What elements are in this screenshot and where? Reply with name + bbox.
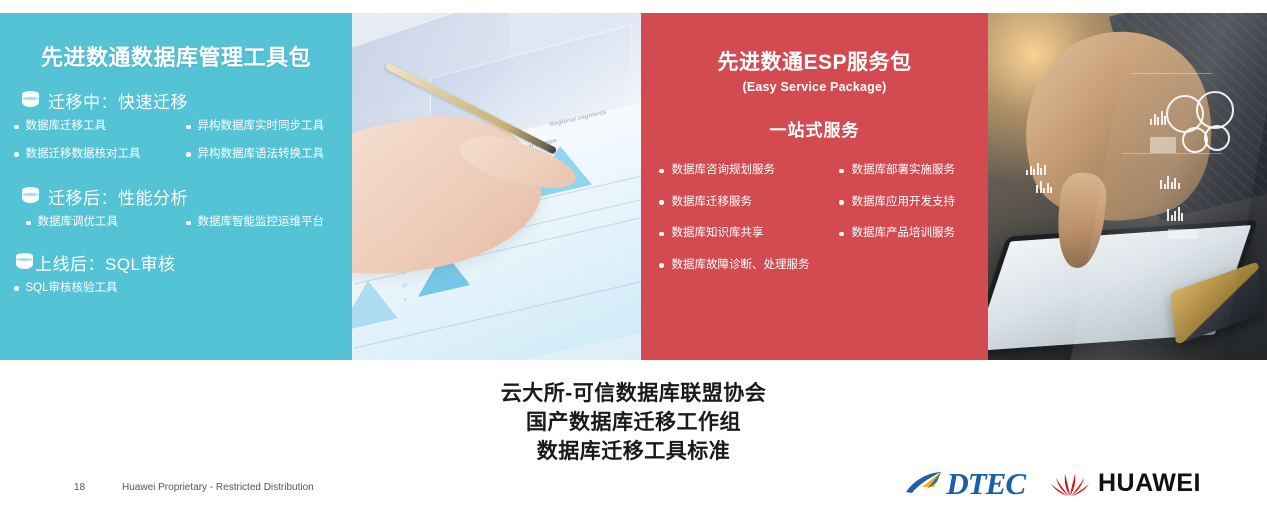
list-item: 数据库调优工具 [14,209,186,237]
list-item-label: 数据库咨询规划服务 [672,165,776,177]
list-item-label: 数据库故障诊断、处理服务 [672,260,810,272]
bullet-dot-icon [839,200,844,205]
photo-hand-with-pen-over-analytics: Regional segments Central Europe East Eu… [340,13,650,360]
list-item-label: 数据库调优工具 [38,217,119,229]
photo-hud-bars [1026,161,1046,175]
photo-hand-touching-tablet [982,13,1267,360]
list-item: 数据库应用开发支持 [839,187,987,219]
list-item-label: 数据库应用开发支持 [852,197,956,209]
list-item-label: 数据库知识库共享 [672,228,764,240]
page-number: 18 [74,482,85,493]
footer-logos: DTEC HUAWEI [905,468,1201,499]
list-item: 数据迁移数据核对工具 [14,141,186,169]
bullet-dot-icon [659,169,664,174]
left-section-heading-performance: 迁移后：性能分析 [0,184,352,209]
bullet-dot-icon [186,125,191,130]
database-icon [22,91,39,110]
database-icon [22,187,39,206]
left-section-heading-text: 迁移中：快速迁移 [48,88,188,113]
bullet-dot-icon [186,152,191,157]
left-panel-title: 先进数通数据库管理工具包 [0,13,352,72]
list-item: 数据库咨询规划服务 [659,155,839,187]
right-panel-tagline: 一站式服务 [641,116,988,141]
caption-line-1: 云大所-可信数据库联盟协会 [0,380,1267,409]
bullet-dot-icon [659,232,664,237]
bullet-dot-icon [14,152,19,157]
list-item-label: 异构数据库实时同步工具 [198,121,325,133]
right-panel-esp-service: 先进数通ESP服务包 (Easy Service Package) 一站式服务 … [641,13,988,360]
slide-caption: 云大所-可信数据库联盟协会 国产数据库迁移工作组 数据库迁移工具标准 [0,380,1267,467]
right-panel-title: 先进数通ESP服务包 [641,13,988,76]
content-band: Regional segments Central Europe East Eu… [0,13,1267,360]
photo-hud-line [1122,153,1222,154]
list-item: 数据库故障诊断、处理服务 [659,250,988,282]
huawei-logo: HUAWEI [1051,470,1201,498]
database-icon [16,253,33,272]
photo-hud-ring [1196,91,1234,129]
right-panel-subtitle: (Easy Service Package) [641,80,988,94]
list-item: 数据库智能监控运维平台 [186,209,352,237]
dtec-logo: DTEC [905,468,1025,499]
caption-line-2: 国产数据库迁移工作组 [0,409,1267,438]
list-item-label: 数据库迁移服务 [672,197,753,209]
photo-hud-block [1150,137,1176,153]
bullet-dot-icon [14,125,19,130]
left-section-heading-sql-audit: 上线后：SQL审核 [0,250,352,275]
photo-hud-bars [1150,109,1166,125]
bullet-dot-icon [14,286,19,291]
photo-hud-bars [1167,205,1183,221]
bullet-dot-icon [659,200,664,205]
photo-hud-block [1168,229,1198,239]
huawei-wordmark: HUAWEI [1098,471,1201,496]
list-item: 数据库迁移工具 [14,113,186,141]
photo-hud-ring [1204,125,1230,151]
list-item-label: 数据库部署实施服务 [852,165,956,177]
photo-hud-line [1132,73,1212,74]
bullet-dot-icon [26,221,31,226]
photo-hud-bars [1036,179,1052,193]
list-item-label: SQL审核核验工具 [26,283,118,295]
list-item: 数据库迁移服务 [659,187,839,219]
bullet-dot-icon [839,169,844,174]
list-item: 数据库知识库共享 [659,218,839,250]
dtec-wordmark: DTEC [946,468,1025,499]
left-section-items-sql-audit: SQL审核核验工具 [0,275,352,303]
confidentiality-note: Huawei Proprietary - Restricted Distribu… [122,482,314,493]
photo-hud-bars [1160,173,1180,189]
dtec-swoosh-icon [905,470,945,498]
list-item-label: 异构数据库语法转换工具 [198,149,325,161]
list-item: 数据库部署实施服务 [839,155,987,187]
list-item-label: 数据库智能监控运维平台 [198,217,325,229]
left-panel-database-toolkit: 先进数通数据库管理工具包 迁移中：快速迁移 数据库迁移工具 异构数据库实时同步工… [0,13,352,360]
list-item: 数据库产品培训服务 [839,218,987,250]
right-panel-items: 数据库咨询规划服务 数据库部署实施服务 数据库迁移服务 数据库应用开发支持 数据… [641,155,988,281]
list-item-label: 数据库迁移工具 [26,121,107,133]
bullet-dot-icon [839,232,844,237]
left-section-heading-migration: 迁移中：快速迁移 [0,88,352,113]
huawei-flower-icon [1051,470,1089,498]
bullet-dot-icon [186,221,191,226]
list-item: SQL审核核验工具 [14,275,352,303]
left-section-items-performance: 数据库调优工具 数据库智能监控运维平台 [0,209,352,237]
caption-line-3: 数据库迁移工具标准 [0,438,1267,467]
list-item-label: 数据迁移数据核对工具 [26,149,141,161]
list-item: 异构数据库语法转换工具 [186,141,352,169]
left-section-items-migration: 数据库迁移工具 异构数据库实时同步工具 数据迁移数据核对工具 异构数据库语法转换… [0,113,352,168]
list-item: 异构数据库实时同步工具 [186,113,352,141]
slide: Regional segments Central Europe East Eu… [0,0,1267,510]
left-section-heading-text: 迁移后：性能分析 [48,184,188,209]
bullet-dot-icon [659,263,664,268]
left-section-heading-text: 上线后：SQL审核 [35,250,176,275]
list-item-label: 数据库产品培训服务 [852,228,956,240]
